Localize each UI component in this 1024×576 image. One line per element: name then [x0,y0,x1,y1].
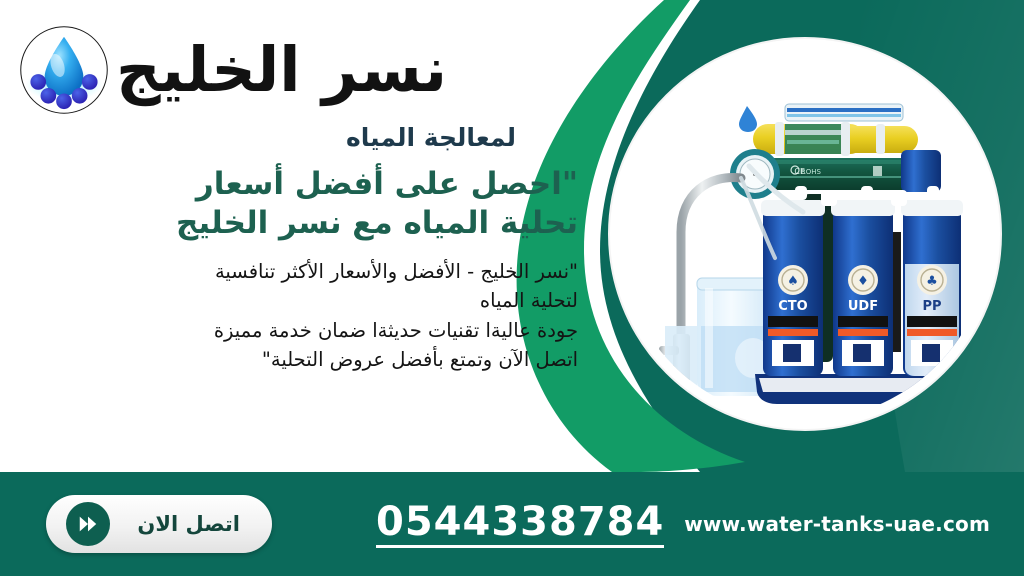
svg-text:CTO: CTO [778,299,807,314]
headline-line-2: تحلية المياه مع نسر الخليج [28,204,578,244]
footer-bar: اتصل الان 0544338784 www.water-tanks-uae… [0,472,1024,576]
body-line-4: اتصل الآن وتمتع بأفضل عروض التحلية" [34,346,578,374]
banner-canvas: CE ROHS [0,0,1024,576]
website-url[interactable]: www.water-tanks-uae.com [684,512,990,536]
svg-text:♦: ♦ [857,274,869,289]
body-line-3: جودة عالية‌ا تقنيات حديثة‌ا ضمان خدمة مم… [34,317,578,345]
content-column: نسر الخليج لمعالجة المياه "احصل على أفضل… [0,0,600,472]
svg-text:♠: ♠ [787,274,799,289]
svg-text:ROHS: ROHS [801,168,822,176]
body-copy: "نسر الخليج - الأفضل والأسعار الأكثر تنا… [18,258,578,374]
svg-text:UDF: UDF [848,299,878,314]
brand-tagline: لمعالجة المياه [18,124,516,153]
ro-water-filter-illustration: CE ROHS [635,82,975,412]
body-line-1: "نسر الخليج - الأفضل والأسعار الأكثر تنا… [34,258,578,286]
brand-lockup: نسر الخليج [18,18,578,122]
fast-forward-icon [66,502,110,546]
call-now-label: اتصل الان [137,512,266,536]
phone-number[interactable]: 0544338784 [376,501,664,548]
svg-text:PP: PP [922,299,941,314]
call-now-button[interactable]: اتصل الان [46,495,272,553]
brand-name: نسر الخليج [116,39,447,101]
body-line-2: لتحلية المياه [34,287,578,315]
svg-text:♣: ♣ [926,274,938,289]
headline-line-1: "احصل على أفضل أسعار [28,165,578,205]
water-drop-icon [18,24,110,116]
product-image: CE ROHS [619,48,991,420]
headline: "احصل على أفضل أسعار تحلية المياه مع نسر… [18,165,578,244]
